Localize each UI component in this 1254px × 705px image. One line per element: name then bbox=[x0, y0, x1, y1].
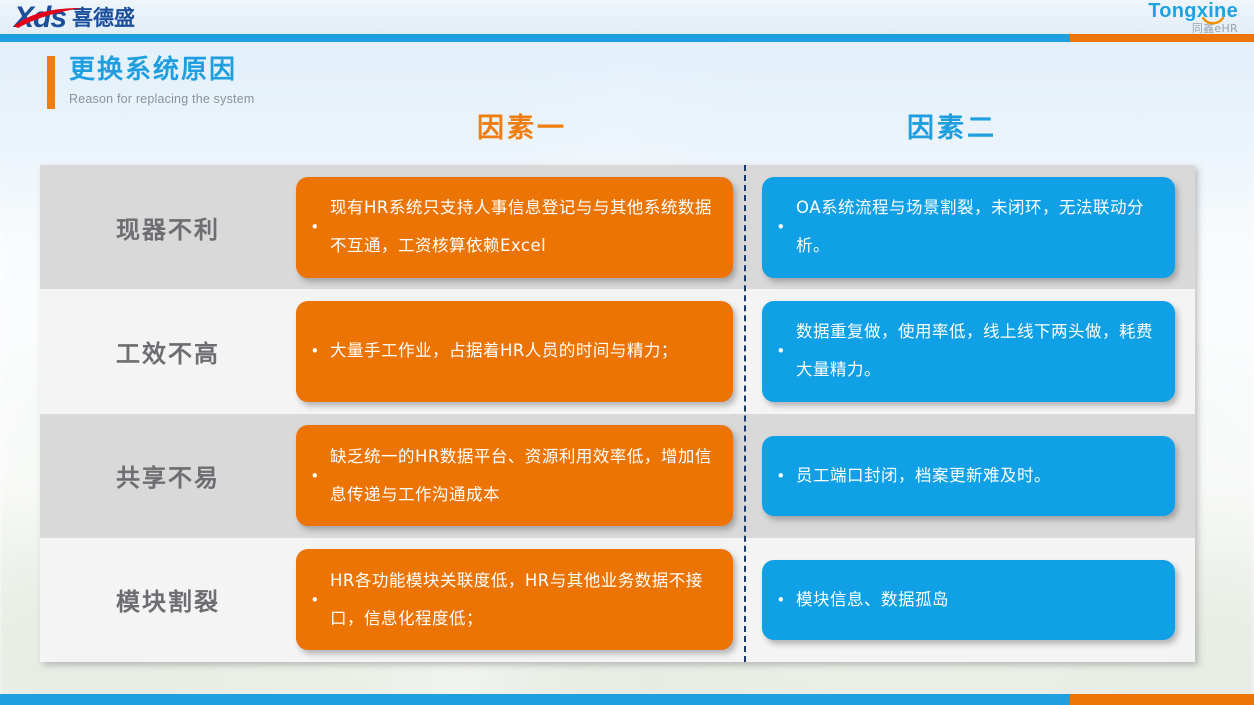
row-label: 模块割裂 bbox=[40, 582, 296, 617]
footer-rule-blue-segment bbox=[0, 694, 1070, 705]
factor-two-text: 数据重复做，使用率低，线上线下两头做，耗费大量精力。 bbox=[796, 313, 1159, 389]
factor-one-text: 现有HR系统只支持人事信息登记与与其他系统数据不互通，工资核算依赖Excel bbox=[330, 189, 717, 265]
factor-one-text: 大量手工作业，占据着HR人员的时间与精力； bbox=[330, 332, 717, 370]
table-row: 模块割裂 • HR各功能模块关联度低，HR与其他业务数据不接口，信息化程度低； … bbox=[40, 538, 1195, 662]
tongxine-wordmark-text: Tongxine bbox=[1148, 0, 1238, 22]
bullet-icon: • bbox=[310, 341, 320, 361]
bullet-icon: • bbox=[310, 590, 320, 610]
bullet-icon: • bbox=[776, 341, 786, 361]
factor-one-card[interactable]: • 大量手工作业，占据着HR人员的时间与精力； bbox=[296, 301, 733, 402]
factor-two-card[interactable]: • OA系统流程与场景割裂，未闭环，无法联动分析。 bbox=[762, 177, 1175, 278]
factor-two-card[interactable]: • 员工端口封闭，档案更新难及时。 bbox=[762, 436, 1175, 516]
xds-wordmark: Xds bbox=[14, 3, 66, 33]
column-headings: 因素一 因素二 bbox=[310, 112, 1190, 154]
tongxine-wordmark: Tongxine bbox=[1148, 1, 1238, 21]
title-texts: 更换系统原因 Reason for replacing the system bbox=[69, 54, 254, 109]
bullet-icon: • bbox=[310, 466, 320, 486]
bullet-icon: • bbox=[776, 590, 786, 610]
row-cell-factor-one: • 大量手工作业，占据着HR人员的时间与精力； bbox=[296, 289, 744, 413]
factor-one-card[interactable]: • 缺乏统一的HR数据平台、资源利用效率低，增加信息传递与工作沟通成本 bbox=[296, 425, 733, 526]
xds-wordmark-text: Xds bbox=[14, 1, 66, 34]
tongxine-subtitle: 同鑫eHR bbox=[1148, 23, 1238, 35]
table-row: 共享不易 • 缺乏统一的HR数据平台、资源利用效率低，增加信息传递与工作沟通成本… bbox=[40, 414, 1195, 538]
column-divider bbox=[744, 165, 746, 662]
bullet-icon: • bbox=[776, 466, 786, 486]
row-cell-factor-two: • 员工端口封闭，档案更新难及时。 bbox=[744, 414, 1195, 538]
row-cell-factor-two: • 数据重复做，使用率低，线上线下两头做，耗费大量精力。 bbox=[744, 289, 1195, 413]
bullet-icon: • bbox=[310, 217, 320, 237]
brand-logo-tongxine: Tongxine 同鑫eHR bbox=[1148, 0, 1238, 34]
page-title: 更换系统原因 bbox=[69, 54, 254, 86]
row-label: 现器不利 bbox=[40, 210, 296, 245]
page-title-block: 更换系统原因 Reason for replacing the system bbox=[47, 54, 254, 109]
table-row: 工效不高 • 大量手工作业，占据着HR人员的时间与精力； • 数据重复做，使用率… bbox=[40, 289, 1195, 413]
row-cell-factor-one: • HR各功能模块关联度低，HR与其他业务数据不接口，信息化程度低； bbox=[296, 538, 744, 662]
factor-one-card[interactable]: • 现有HR系统只支持人事信息登记与与其他系统数据不互通，工资核算依赖Excel bbox=[296, 177, 733, 278]
table-row: 现器不利 • 现有HR系统只支持人事信息登记与与其他系统数据不互通，工资核算依赖… bbox=[40, 165, 1195, 289]
factor-two-text: OA系统流程与场景割裂，未闭环，无法联动分析。 bbox=[796, 189, 1159, 265]
row-label: 共享不易 bbox=[40, 458, 296, 493]
factor-two-text: 员工端口封闭，档案更新难及时。 bbox=[796, 457, 1159, 495]
footer-rule-orange-segment bbox=[1070, 694, 1254, 705]
column-heading-factor-two: 因素二 bbox=[907, 112, 997, 146]
factor-one-text: 缺乏统一的HR数据平台、资源利用效率低，增加信息传递与工作沟通成本 bbox=[330, 438, 717, 514]
slide-canvas: Xds 喜德盛 Tongxine 同鑫eHR 更换系统原因 Reason for… bbox=[0, 0, 1254, 705]
bullet-icon: • bbox=[776, 217, 786, 237]
page-subtitle: Reason for replacing the system bbox=[69, 91, 254, 107]
row-cell-factor-one: • 缺乏统一的HR数据平台、资源利用效率低，增加信息传递与工作沟通成本 bbox=[296, 414, 744, 538]
smile-icon bbox=[1202, 17, 1224, 25]
header-bar bbox=[0, 0, 1254, 34]
row-label: 工效不高 bbox=[40, 334, 296, 369]
factor-one-text: HR各功能模块关联度低，HR与其他业务数据不接口，信息化程度低； bbox=[330, 562, 717, 638]
reasons-table: 现器不利 • 现有HR系统只支持人事信息登记与与其他系统数据不互通，工资核算依赖… bbox=[40, 165, 1195, 662]
factor-two-text: 模块信息、数据孤岛 bbox=[796, 581, 1159, 619]
footer-accent-rule bbox=[0, 694, 1254, 705]
column-heading-factor-one: 因素一 bbox=[477, 112, 567, 146]
factor-two-card[interactable]: • 数据重复做，使用率低，线上线下两头做，耗费大量精力。 bbox=[762, 301, 1175, 402]
header-rule-blue-segment bbox=[0, 34, 1070, 42]
header-accent-rule bbox=[0, 34, 1254, 42]
brand-logo-xds: Xds 喜德盛 bbox=[14, 1, 135, 34]
row-cell-factor-one: • 现有HR系统只支持人事信息登记与与其他系统数据不互通，工资核算依赖Excel bbox=[296, 165, 744, 289]
title-accent-bar bbox=[47, 56, 55, 109]
row-cell-factor-two: • OA系统流程与场景割裂，未闭环，无法联动分析。 bbox=[744, 165, 1195, 289]
header-rule-orange-segment bbox=[1070, 34, 1254, 42]
factor-two-card[interactable]: • 模块信息、数据孤岛 bbox=[762, 560, 1175, 640]
row-cell-factor-two: • 模块信息、数据孤岛 bbox=[744, 538, 1195, 662]
xds-chinese-name: 喜德盛 bbox=[72, 3, 135, 33]
factor-one-card[interactable]: • HR各功能模块关联度低，HR与其他业务数据不接口，信息化程度低； bbox=[296, 549, 733, 650]
